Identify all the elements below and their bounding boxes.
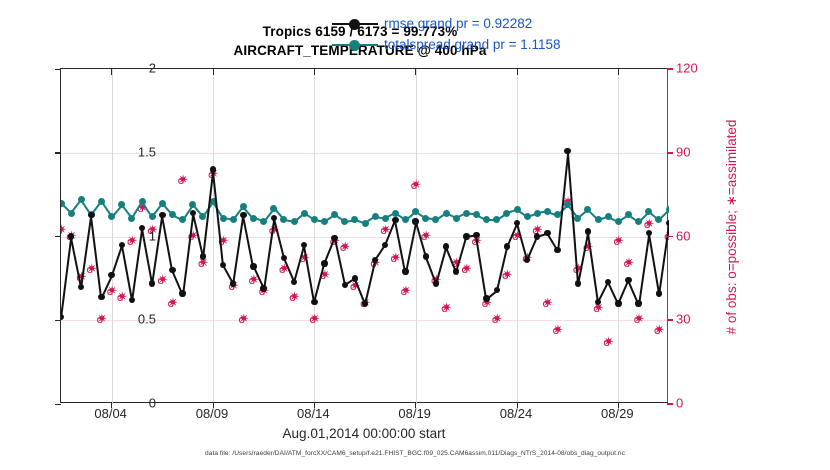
data-point (119, 242, 125, 248)
data-point (98, 294, 104, 300)
data-point (554, 247, 560, 253)
x-tick-label: 08/14 (297, 406, 330, 421)
line-segment (61, 236, 72, 317)
data-point (655, 216, 662, 223)
data-point (483, 295, 489, 301)
data-point (494, 287, 500, 293)
data-point (412, 208, 419, 215)
data-point (149, 213, 156, 220)
data-point (412, 218, 418, 224)
data-point (524, 213, 531, 220)
data-point (179, 290, 185, 296)
y2-tick-label: 60 (676, 228, 690, 243)
data-point (453, 268, 459, 274)
data-point (311, 299, 317, 305)
data-point (595, 216, 602, 223)
line-segment (111, 245, 123, 276)
data-point (352, 275, 358, 281)
data-point (544, 230, 550, 236)
x-tick-top (415, 69, 416, 75)
y2-tick (667, 236, 673, 238)
data-point (139, 225, 145, 231)
data-point (108, 272, 114, 278)
y-tick-label: 1 (149, 228, 156, 243)
legend-label: totalspread grand pr = 1.1158 (384, 37, 561, 52)
line-segment (182, 213, 194, 294)
data-point (574, 215, 581, 222)
x-tick-label: 08/19 (398, 406, 431, 421)
data-point (280, 216, 287, 223)
data-point (250, 263, 256, 269)
data-point (271, 215, 277, 221)
y-tick-label: 2 (149, 61, 156, 76)
data-point (493, 216, 500, 223)
x-tick-label: 08/09 (196, 406, 229, 421)
data-point (159, 200, 166, 207)
y2-tick-label: 30 (676, 312, 690, 327)
data-point (564, 148, 570, 154)
legend-label: rmse grand pr = 0.92282 (384, 16, 532, 31)
data-point (382, 242, 388, 248)
data-point (443, 243, 449, 249)
data-point (473, 232, 479, 238)
data-point (483, 216, 490, 223)
data-point (514, 220, 520, 226)
data-point (149, 280, 155, 286)
data-point (311, 216, 318, 223)
data-point (139, 198, 146, 205)
line-segment (232, 215, 244, 284)
data-point (61, 200, 65, 207)
data-point (98, 198, 105, 205)
data-point (605, 279, 611, 285)
y-tick-label: 1.5 (138, 144, 156, 159)
y2-axis-title: # of obs: o=possible; ∗=assimilated (724, 62, 740, 392)
data-point (585, 228, 591, 234)
data-point (463, 210, 470, 217)
data-point (210, 166, 216, 172)
line-segment (243, 215, 255, 267)
data-point (534, 210, 541, 217)
data-point (362, 300, 368, 306)
x-tick-top (517, 69, 518, 75)
data-point (432, 216, 439, 223)
data-point (199, 213, 206, 220)
line-segment (648, 233, 660, 294)
data-point (635, 300, 641, 306)
data-point (250, 215, 257, 222)
data-point (351, 216, 358, 223)
data-point (129, 297, 135, 303)
data-point (108, 213, 115, 220)
y-tick-label: 0 (149, 396, 156, 411)
y2-tick (667, 403, 673, 405)
legend-line-icon (332, 39, 378, 51)
y2-tick-label: 0 (676, 396, 683, 411)
data-point (240, 203, 247, 210)
data-point (291, 279, 297, 285)
data-point (514, 206, 521, 213)
data-point (321, 218, 328, 225)
data-point (68, 233, 74, 239)
data-point (270, 205, 277, 212)
y-tick (55, 69, 61, 70)
y2-tick-label: 120 (676, 61, 698, 76)
data-point (88, 212, 94, 218)
y-tick (55, 236, 61, 237)
data-point (342, 282, 348, 288)
data-point (128, 215, 135, 222)
legend-line-icon (332, 18, 378, 30)
line-segment (405, 221, 417, 272)
data-point (260, 285, 266, 291)
data-point (220, 215, 227, 222)
y-tick-label: 0.5 (138, 312, 156, 327)
y2-tick-label: 90 (676, 144, 690, 159)
x-tick-top (111, 69, 112, 75)
line-segment (638, 233, 650, 304)
data-point (169, 267, 175, 273)
y2-tick (667, 152, 673, 154)
data-point (504, 243, 510, 249)
data-point (240, 212, 246, 218)
data-point (635, 218, 642, 225)
data-point (615, 218, 622, 225)
data-point (666, 220, 669, 226)
data-point (190, 210, 196, 216)
legend-item[interactable]: totalspread grand pr = 1.1158 (332, 34, 561, 55)
data-point (433, 280, 439, 286)
data-point (392, 217, 398, 223)
data-point (423, 253, 429, 259)
data-point (625, 277, 631, 283)
data-point (68, 210, 75, 217)
data-file-footer: data file: /Users/raeder/DAI/ATM_forcXX/… (0, 450, 830, 457)
data-point (179, 216, 186, 223)
y2-tick (667, 68, 673, 70)
data-point (301, 242, 307, 248)
data-point (453, 215, 460, 222)
y2-tick (667, 319, 673, 321)
data-point (544, 208, 551, 215)
data-point (422, 215, 429, 222)
line-segment (162, 215, 174, 271)
chart-legend: rmse grand pr = 0.92282totalspread grand… (332, 13, 561, 55)
x-tick-top (213, 69, 214, 75)
data-point (382, 215, 389, 222)
data-point (159, 212, 165, 218)
data-point (78, 284, 84, 290)
data-point (291, 218, 298, 225)
data-point (534, 233, 540, 239)
legend-item[interactable]: rmse grand pr = 0.92282 (332, 13, 561, 34)
data-point (61, 314, 64, 320)
line-segment (91, 215, 103, 297)
data-point (301, 210, 308, 217)
data-point (402, 216, 409, 223)
data-point (230, 280, 236, 286)
data-point (575, 280, 581, 286)
data-point (463, 233, 469, 239)
y-tick (55, 152, 61, 153)
data-point (372, 213, 379, 220)
data-point (200, 253, 206, 259)
y-tick (55, 320, 61, 321)
data-point (78, 196, 85, 203)
data-point (321, 260, 327, 266)
x-tick-top (618, 69, 619, 75)
x-axis-title: Aug.01,2014 00:00:00 start (60, 426, 668, 441)
x-tick-label: 08/04 (94, 406, 127, 421)
x-tick-label: 08/29 (601, 406, 634, 421)
data-point (443, 210, 450, 217)
data-point (503, 210, 510, 217)
data-point (341, 218, 348, 225)
data-point (646, 230, 652, 236)
chart-root: Tropics 6159 / 6173 = 99.773% AIRCRAFT_T… (0, 0, 830, 470)
data-point (392, 210, 399, 217)
data-point (402, 268, 408, 274)
y-tick (55, 404, 61, 405)
data-point (615, 300, 621, 306)
x-tick-label: 08/24 (500, 406, 533, 421)
data-point (656, 290, 662, 296)
data-point (230, 216, 237, 223)
data-point (362, 220, 369, 227)
data-point (605, 213, 612, 220)
data-point (260, 218, 267, 225)
x-tick-top (314, 69, 315, 75)
